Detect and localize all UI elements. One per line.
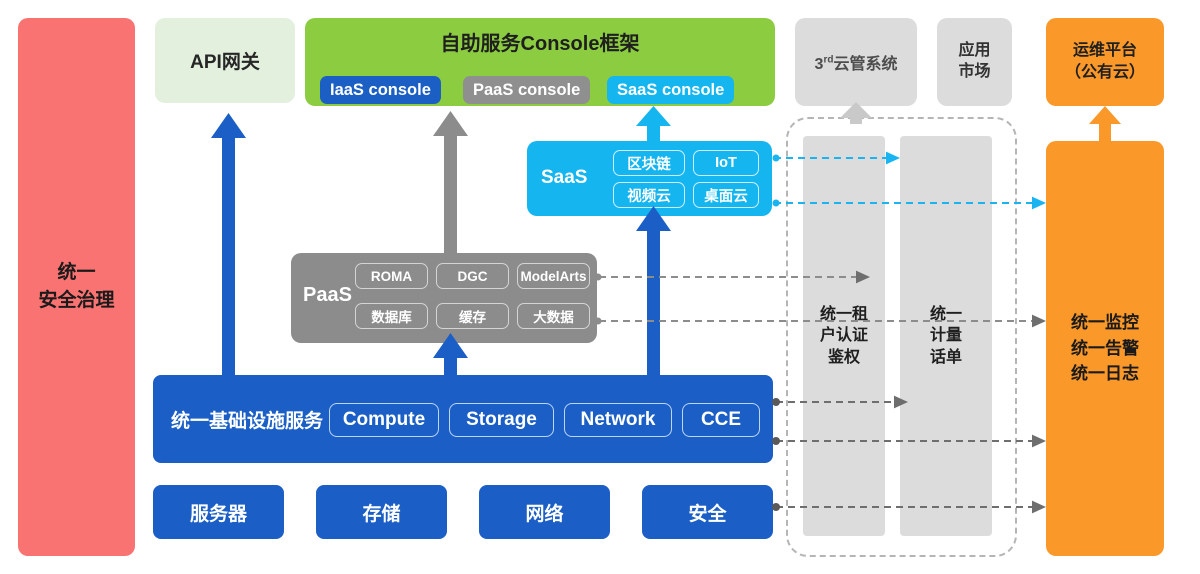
console-button-row: IaaS console PaaS console SaaS console <box>305 76 775 104</box>
infra-cell-network[interactable]: Network <box>564 403 672 437</box>
ops-panel-line-2: 统一告警 <box>1071 336 1139 362</box>
paas-cell-bigdata[interactable]: 大数据 <box>517 303 590 329</box>
ops-platform-line-2: （公有云） <box>1065 62 1145 84</box>
api-gateway-box: API网关 <box>155 18 295 103</box>
app-market-line-1: 应用 <box>958 41 990 62</box>
hardware-box-security: 安全 <box>642 485 773 539</box>
metering-line-3: 话单 <box>930 347 962 369</box>
infra-cell-cce[interactable]: CCE <box>682 403 760 437</box>
saas-console-button[interactable]: SaaS console <box>607 76 734 104</box>
infrastructure-label: 统一基础设施服务 <box>171 406 323 433</box>
paas-console-button[interactable]: PaaS console <box>463 76 590 104</box>
third-party-cloud-mgmt-label: 3rd云管系统 <box>815 50 898 74</box>
saas-label: SaaS <box>541 167 587 189</box>
auth-line-3: 鉴权 <box>820 347 868 369</box>
hardware-box-network: 网络 <box>479 485 610 539</box>
security-line-1: 统一 <box>38 259 114 287</box>
unified-tenant-auth-column: 统一租 户认证 鉴权 <box>803 136 885 536</box>
saas-cell-video-cloud[interactable]: 视频云 <box>613 182 685 208</box>
hardware-box-storage: 存储 <box>316 485 447 539</box>
third-party-cloud-mgmt-box: 3rd云管系统 <box>795 18 917 106</box>
ops-platform-box: 运维平台 （公有云） <box>1046 18 1164 106</box>
ops-platform-line-1: 运维平台 <box>1065 40 1145 62</box>
arrow-ops-panel-to-ops-platform <box>1089 106 1121 142</box>
paas-cell-dgc[interactable]: DGC <box>436 263 509 289</box>
paas-cell-modelarts[interactable]: ModelArts <box>517 263 590 289</box>
console-framework-box: 自助服务Console框架 IaaS console PaaS console … <box>305 18 775 106</box>
auth-line-2: 户认证 <box>820 325 868 347</box>
security-governance-panel: 统一 安全治理 <box>18 18 135 556</box>
arrow-paas-to-console <box>433 111 468 253</box>
paas-cell-roma[interactable]: ROMA <box>355 263 428 289</box>
app-market-line-2: 市场 <box>958 62 990 83</box>
hardware-box-server: 服务器 <box>153 485 284 539</box>
infra-cell-compute[interactable]: Compute <box>329 403 439 437</box>
saas-cell-desktop-cloud[interactable]: 桌面云 <box>693 182 759 208</box>
security-line-2: 安全治理 <box>38 287 114 315</box>
iaas-console-button[interactable]: IaaS console <box>320 76 441 104</box>
arrow-saas-to-console <box>636 106 671 143</box>
auth-line-1: 统一租 <box>820 304 868 326</box>
architecture-diagram: 统一 安全治理 API网关 自助服务Console框架 IaaS console… <box>0 0 1200 574</box>
console-framework-title: 自助服务Console框架 <box>305 27 775 56</box>
unified-infrastructure-bar: 统一基础设施服务 Compute Storage Network CCE <box>153 375 773 463</box>
saas-box: SaaS 区块链 IoT 视频云 桌面云 <box>527 141 772 216</box>
arrow-infra-to-api-gateway <box>211 113 246 375</box>
ops-panel-line-3: 统一日志 <box>1071 361 1139 387</box>
paas-box: PaaS ROMA DGC ModelArts 数据库 缓存 大数据 <box>291 253 597 343</box>
arrow-infra-to-saas <box>636 206 671 376</box>
infra-cell-storage[interactable]: Storage <box>449 403 554 437</box>
paas-label: PaaS <box>303 284 352 307</box>
ops-panel-line-1: 统一监控 <box>1071 310 1139 336</box>
app-market-box: 应用 市场 <box>937 18 1012 106</box>
saas-cell-iot[interactable]: IoT <box>693 150 759 176</box>
saas-cell-blockchain[interactable]: 区块链 <box>613 150 685 176</box>
api-gateway-label: API网关 <box>190 47 260 74</box>
metering-line-2: 计量 <box>930 325 962 347</box>
metering-line-1: 统一 <box>930 304 962 326</box>
paas-cell-database[interactable]: 数据库 <box>355 303 428 329</box>
paas-cell-cache[interactable]: 缓存 <box>436 303 509 329</box>
unified-ops-panel: 统一监控 统一告警 统一日志 <box>1046 141 1164 556</box>
unified-metering-column: 统一 计量 话单 <box>900 136 992 536</box>
